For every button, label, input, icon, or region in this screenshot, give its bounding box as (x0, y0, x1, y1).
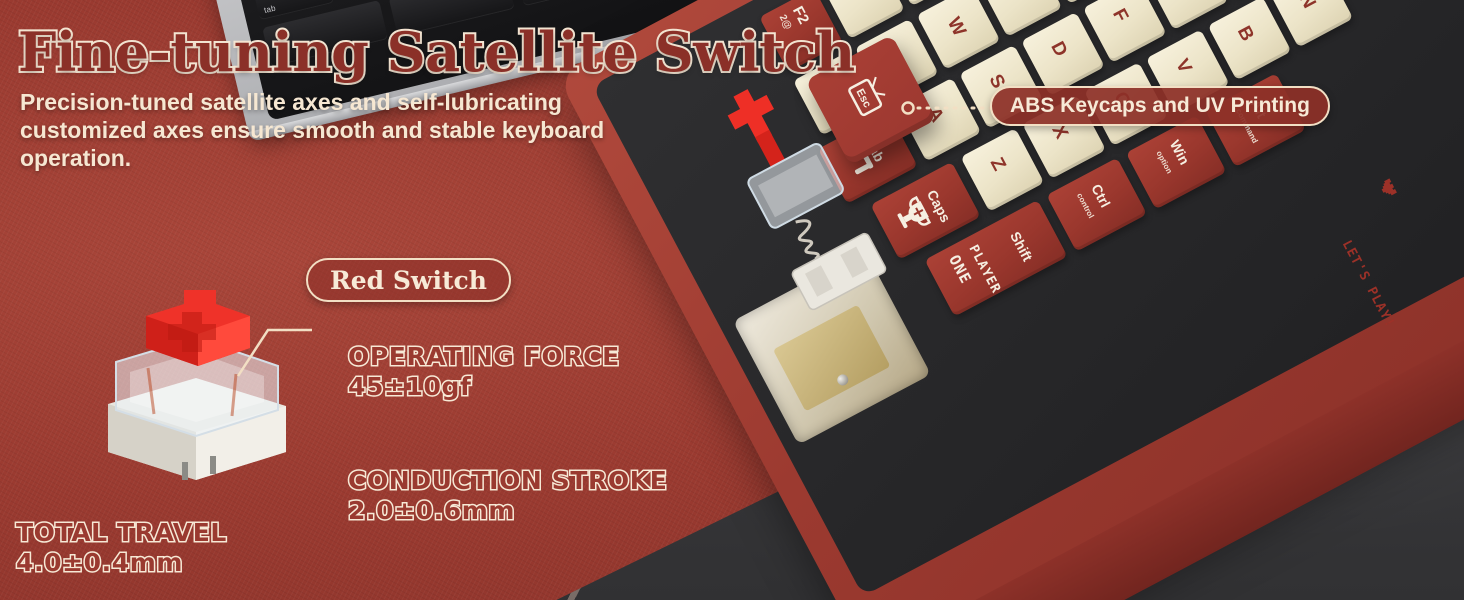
switch-spring (792, 216, 826, 261)
spec-total-travel-label: TOTAL TRAVEL (16, 518, 227, 548)
laptop-key-tab-label: tab (263, 3, 277, 14)
spec-total-travel-value: 4.0±0.4mm (16, 548, 227, 578)
switch-callout-pill[interactable]: Red Switch (306, 258, 511, 302)
page-subtitle: Precision-tuned satellite axes and self-… (20, 88, 680, 172)
pixel-heart-icon (1376, 175, 1401, 201)
product-banner: tab caps lock control F2 (0, 0, 1464, 600)
spec-operating-force-label: OPERATING FORCE (348, 342, 620, 372)
red-switch-illustration (86, 286, 306, 486)
laptop-key-blank-f (515, 0, 641, 6)
spec-total-travel: TOTAL TRAVEL 4.0±0.4mm (16, 518, 227, 577)
spec-operating-force-value: 45±10gf (348, 372, 620, 402)
shift-badge-line1: PLAYER (965, 243, 1003, 297)
spec-conduction-stroke: CONDUCTION STROKE 2.0±0.6mm (348, 466, 667, 525)
keycaps-callout-pill[interactable]: ABS Keycaps and UV Printing (990, 86, 1330, 126)
page-title: Fine-tuning Satellite Switch (18, 20, 855, 84)
spec-operating-force: OPERATING FORCE 45±10gf (348, 342, 620, 401)
spec-conduction-stroke-label: CONDUCTION STROKE (348, 466, 667, 496)
switch-clear-housing (746, 142, 845, 230)
spec-conduction-stroke-value: 2.0±0.6mm (348, 496, 667, 526)
